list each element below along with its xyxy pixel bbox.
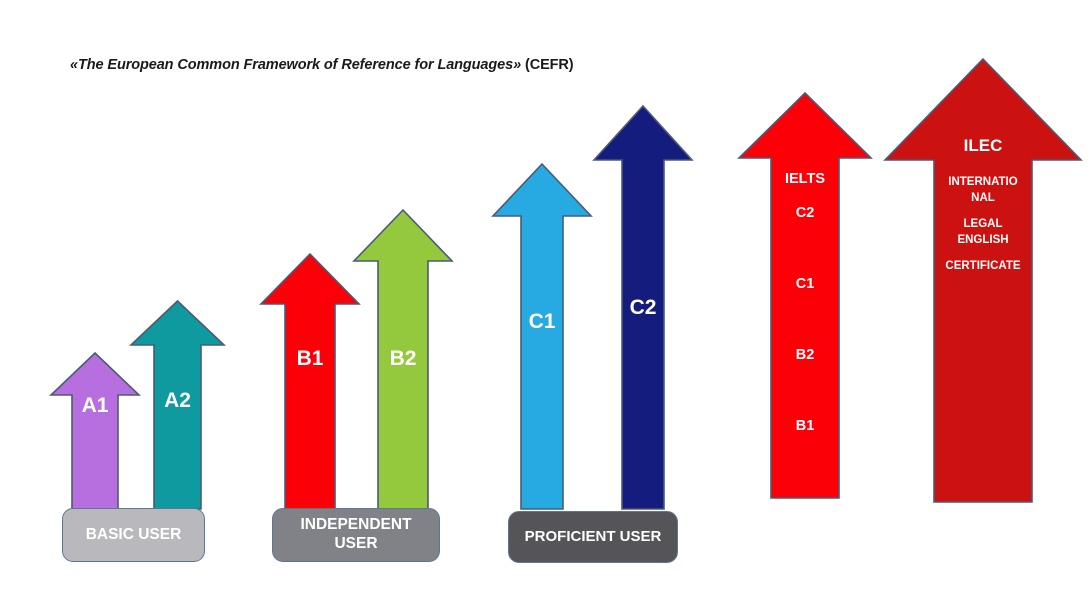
arrow-ilec: [884, 58, 1082, 503]
group-label-proficient-user: PROFICIENT USER: [508, 511, 678, 563]
arrow-c1: [492, 163, 592, 510]
exam-expansion-ilec-line3: LEGAL: [884, 218, 1082, 232]
exam-level-ielts-c2: C2: [738, 205, 872, 222]
arrow-ielts: [738, 92, 872, 499]
group-label-independent-user: INDEPENDENT USER: [272, 508, 440, 562]
exam-level-ielts-b1: B1: [738, 418, 872, 435]
title-abbrev-part: (CEFR): [521, 57, 573, 73]
exam-expansion-ilec-line5: CERTIFICATE: [884, 260, 1082, 274]
group-label-proficient-user-text: PROFICIENT USER: [525, 528, 662, 546]
arrow-b2: [353, 209, 453, 510]
exam-level-ielts-b2: B2: [738, 347, 872, 364]
arrow-a2: [130, 300, 225, 510]
arrow-a1: [50, 352, 140, 510]
arrow-c2: [593, 105, 693, 510]
exam-level-ielts-c1: C1: [738, 276, 872, 293]
page-title: «The European Common Framework of Refere…: [70, 57, 574, 73]
group-label-independent-user-line1: INDEPENDENT: [300, 516, 411, 535]
group-label-basic-user: BASIC USER: [62, 508, 205, 562]
exam-name-ilec: ILEC: [884, 136, 1082, 156]
exam-name-ielts: IELTS: [738, 171, 872, 188]
title-quoted-part: «The European Common Framework of Refere…: [70, 57, 521, 73]
arrow-b1: [260, 253, 360, 510]
cefr-diagram: «The European Common Framework of Refere…: [0, 0, 1092, 590]
group-label-basic-user-text: BASIC USER: [86, 526, 182, 545]
exam-expansion-ilec-line4: ENGLISH: [884, 234, 1082, 248]
group-label-independent-user-line2: USER: [334, 535, 377, 554]
exam-expansion-ilec-line1: INTERNATIO: [884, 176, 1082, 190]
exam-expansion-ilec-line2: NAL: [884, 192, 1082, 206]
